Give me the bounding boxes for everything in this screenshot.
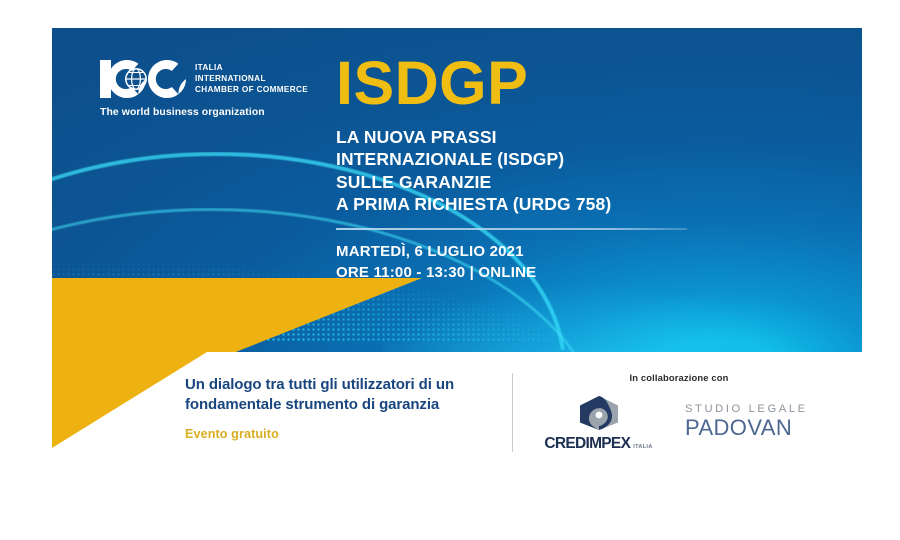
event-title: ISDGP xyxy=(336,54,756,114)
partners-block: In collaborazione con CREDIMPEX ITALIA xyxy=(536,372,856,453)
hero-text-block: ISDGP LA NUOVA PRASSI INTERNAZIONALE (IS… xyxy=(336,54,756,283)
event-subtitle-line-3: SULLE GARANZIE xyxy=(336,171,756,194)
event-subtitle-line-2: INTERNAZIONALE (ISDGP) xyxy=(336,148,756,171)
hero-divider-rule xyxy=(336,228,687,230)
free-event-label: Evento gratuito xyxy=(185,427,510,441)
yellow-wedge-lower xyxy=(52,352,207,448)
footer-tagline-line-2: fondamentale strumento di garanzia xyxy=(185,395,510,415)
event-subtitle: LA NUOVA PRASSI INTERNAZIONALE (ISDGP) S… xyxy=(336,126,756,216)
globe-icon xyxy=(126,69,146,89)
event-poster: ITALIA INTERNATIONAL CHAMBER OF COMMERCE… xyxy=(52,28,862,425)
wave-glow xyxy=(382,278,852,352)
credimpex-mark xyxy=(536,395,661,431)
credimpex-hexagon-icon xyxy=(576,395,622,431)
icc-logo: ITALIA INTERNATIONAL CHAMBER OF COMMERCE… xyxy=(100,56,340,118)
icc-wordmark xyxy=(100,56,186,102)
icc-country: ITALIA xyxy=(195,62,308,73)
footer-tagline: Un dialogo tra tutti gli utilizzatori di… xyxy=(185,375,510,414)
event-subtitle-line-4: A PRIMA RICHIESTA (URDG 758) xyxy=(336,193,756,216)
partner-logo-row: CREDIMPEX ITALIA STUDIO LEGALE PADOVAN xyxy=(536,395,856,453)
icc-mark-svg xyxy=(100,56,186,102)
icc-tagline: The world business organization xyxy=(100,107,340,118)
poster-footer: Un dialogo tra tutti gli utilizzatori di… xyxy=(52,352,862,425)
credimpex-wordmark: CREDIMPEX ITALIA xyxy=(536,435,661,453)
credimpex-logo: CREDIMPEX ITALIA xyxy=(536,395,661,453)
padovan-name: PADOVAN xyxy=(685,416,823,439)
event-schedule: MARTEDÌ, 6 LUGLIO 2021 ORE 11:00 - 13:30… xyxy=(336,242,756,283)
footer-vertical-divider xyxy=(512,373,513,452)
icc-org-line1: INTERNATIONAL xyxy=(195,73,308,84)
hero-banner: ITALIA INTERNATIONAL CHAMBER OF COMMERCE… xyxy=(52,28,862,352)
credimpex-suffix: ITALIA xyxy=(633,444,652,450)
padovan-prefix: STUDIO LEGALE xyxy=(685,404,823,415)
partners-label: In collaborazione con xyxy=(536,372,822,383)
event-subtitle-line-1: LA NUOVA PRASSI xyxy=(336,126,756,149)
padovan-logo: STUDIO LEGALE PADOVAN xyxy=(685,395,823,439)
footer-tagline-line-1: Un dialogo tra tutti gli utilizzatori di… xyxy=(185,375,510,395)
icc-logo-row: ITALIA INTERNATIONAL CHAMBER OF COMMERCE xyxy=(100,56,340,102)
footer-tagline-block: Un dialogo tra tutti gli utilizzatori di… xyxy=(185,375,510,441)
event-date: MARTEDÌ, 6 LUGLIO 2021 xyxy=(336,242,756,263)
icc-org-line2: CHAMBER OF COMMERCE xyxy=(195,84,308,95)
icc-logo-words: ITALIA INTERNATIONAL CHAMBER OF COMMERCE xyxy=(195,62,308,97)
credimpex-name: CREDIMPEX xyxy=(544,435,630,453)
event-time: ORE 11:00 - 13:30 | ONLINE xyxy=(336,263,756,284)
